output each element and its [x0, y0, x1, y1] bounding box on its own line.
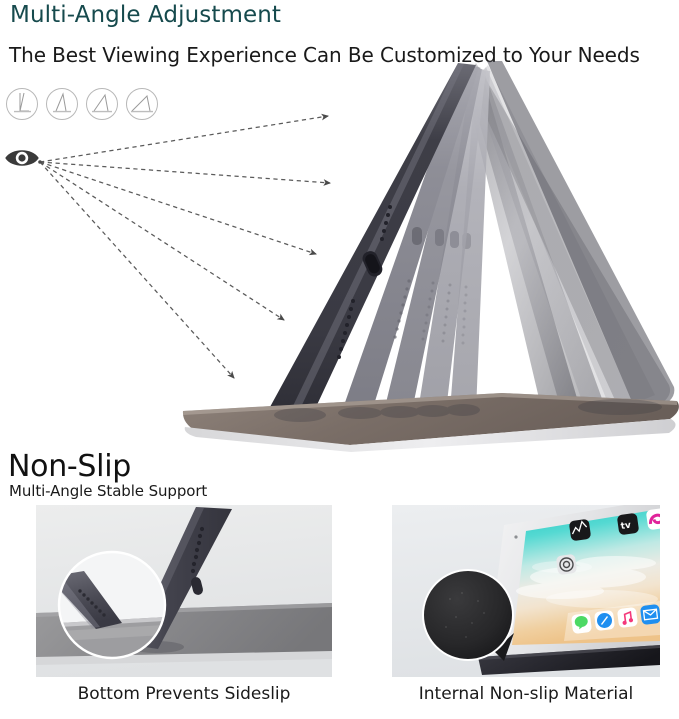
dock-icon-mail[interactable]: [640, 604, 660, 625]
panel-bottom-sideslip: [36, 505, 332, 677]
dock-icon-safari[interactable]: [594, 610, 615, 631]
caption-bottom-prevents-sideslip: Bottom Prevents Sideslip: [36, 684, 332, 704]
photo-ipad-with-microfiber-callout: tv: [392, 505, 660, 677]
page-title: Multi-Angle Adjustment: [10, 2, 281, 28]
panel-internal-material: tv: [392, 505, 660, 677]
photo-tablet-edge-in-groove: [36, 505, 332, 677]
nonslip-title: Non-Slip: [8, 449, 131, 484]
dock-icon-messages[interactable]: [571, 613, 592, 634]
tablet-stand-illustration: [150, 55, 679, 452]
dock-icon-music[interactable]: [617, 607, 638, 628]
ipad-device: tv: [488, 505, 660, 655]
svg-text:tv: tv: [620, 521, 632, 532]
microfiber-callout: [423, 570, 514, 661]
app-icon-stocks[interactable]: [569, 519, 592, 542]
caption-internal-nonslip-material: Internal Non-slip Material: [392, 684, 660, 704]
section-multi-angle-adjustment: Multi-Angle Adjustment The Best Viewing …: [0, 0, 679, 452]
app-icon-settings[interactable]: [556, 554, 577, 575]
app-icon-apple-tv[interactable]: tv: [617, 513, 640, 536]
section-non-slip: Non-Slip Multi-Angle Stable Support: [0, 446, 679, 719]
stand-cover-flap: [464, 61, 674, 413]
nonslip-subtitle: Multi-Angle Stable Support: [9, 482, 207, 500]
